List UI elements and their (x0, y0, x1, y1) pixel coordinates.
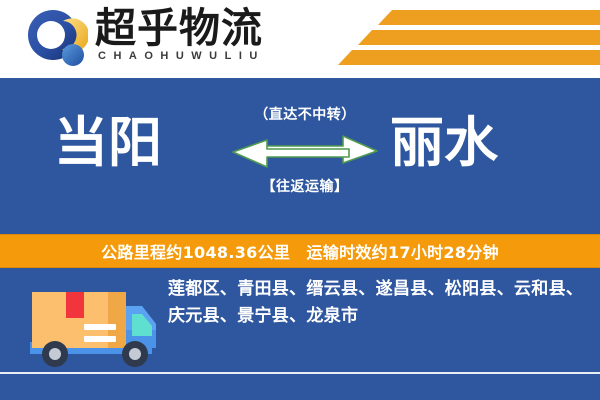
distance-duration-bar: 公路里程约1048.36公里 运输时效约17小时28分钟 (0, 234, 600, 268)
ground-line (0, 372, 600, 374)
destination-city: 丽水 (390, 112, 498, 174)
direct-route-note: （直达不中转） (225, 104, 385, 124)
coverage-section: 莲都区、青田县、缙云县、遂昌县、松阳县、云和县、 庆元县、景宁县、龙泉市 (0, 268, 600, 400)
circle-q-logo-icon (26, 8, 88, 70)
coverage-line-2: 庆元县、景宁县、龙泉市 (168, 303, 588, 330)
coverage-area-list: 莲都区、青田县、缙云县、遂昌县、松阳县、云和县、 庆元县、景宁县、龙泉市 (168, 276, 588, 330)
bidirectional-arrows-icon (225, 132, 385, 170)
logistics-route-banner: 超乎物流 CHAOHUWULIU 当阳 （直达不中转） 【往返运输】 丽水 (0, 0, 600, 400)
brand-name-cn: 超乎物流 (95, 5, 263, 51)
coverage-line-1: 莲都区、青田县、缙云县、遂昌县、松阳县、云和县、 (168, 276, 588, 303)
route-middle: （直达不中转） 【往返运输】 (225, 104, 385, 196)
route-section: 当阳 （直达不中转） 【往返运输】 丽水 (0, 78, 600, 234)
brand-name-en: CHAOHUWULIU (98, 50, 265, 62)
distance-duration-text: 公路里程约1048.36公里 运输时效约17小时28分钟 (101, 239, 499, 263)
stripe-1 (378, 10, 600, 25)
origin-city: 当阳 (54, 112, 162, 174)
stripe-2 (358, 30, 600, 45)
roundtrip-note: 【往返运输】 (225, 176, 385, 196)
delivery-truck-icon (22, 280, 162, 380)
decorative-stripes (280, 0, 600, 78)
stripe-3 (338, 50, 600, 65)
banner-header: 超乎物流 CHAOHUWULIU (0, 0, 600, 78)
